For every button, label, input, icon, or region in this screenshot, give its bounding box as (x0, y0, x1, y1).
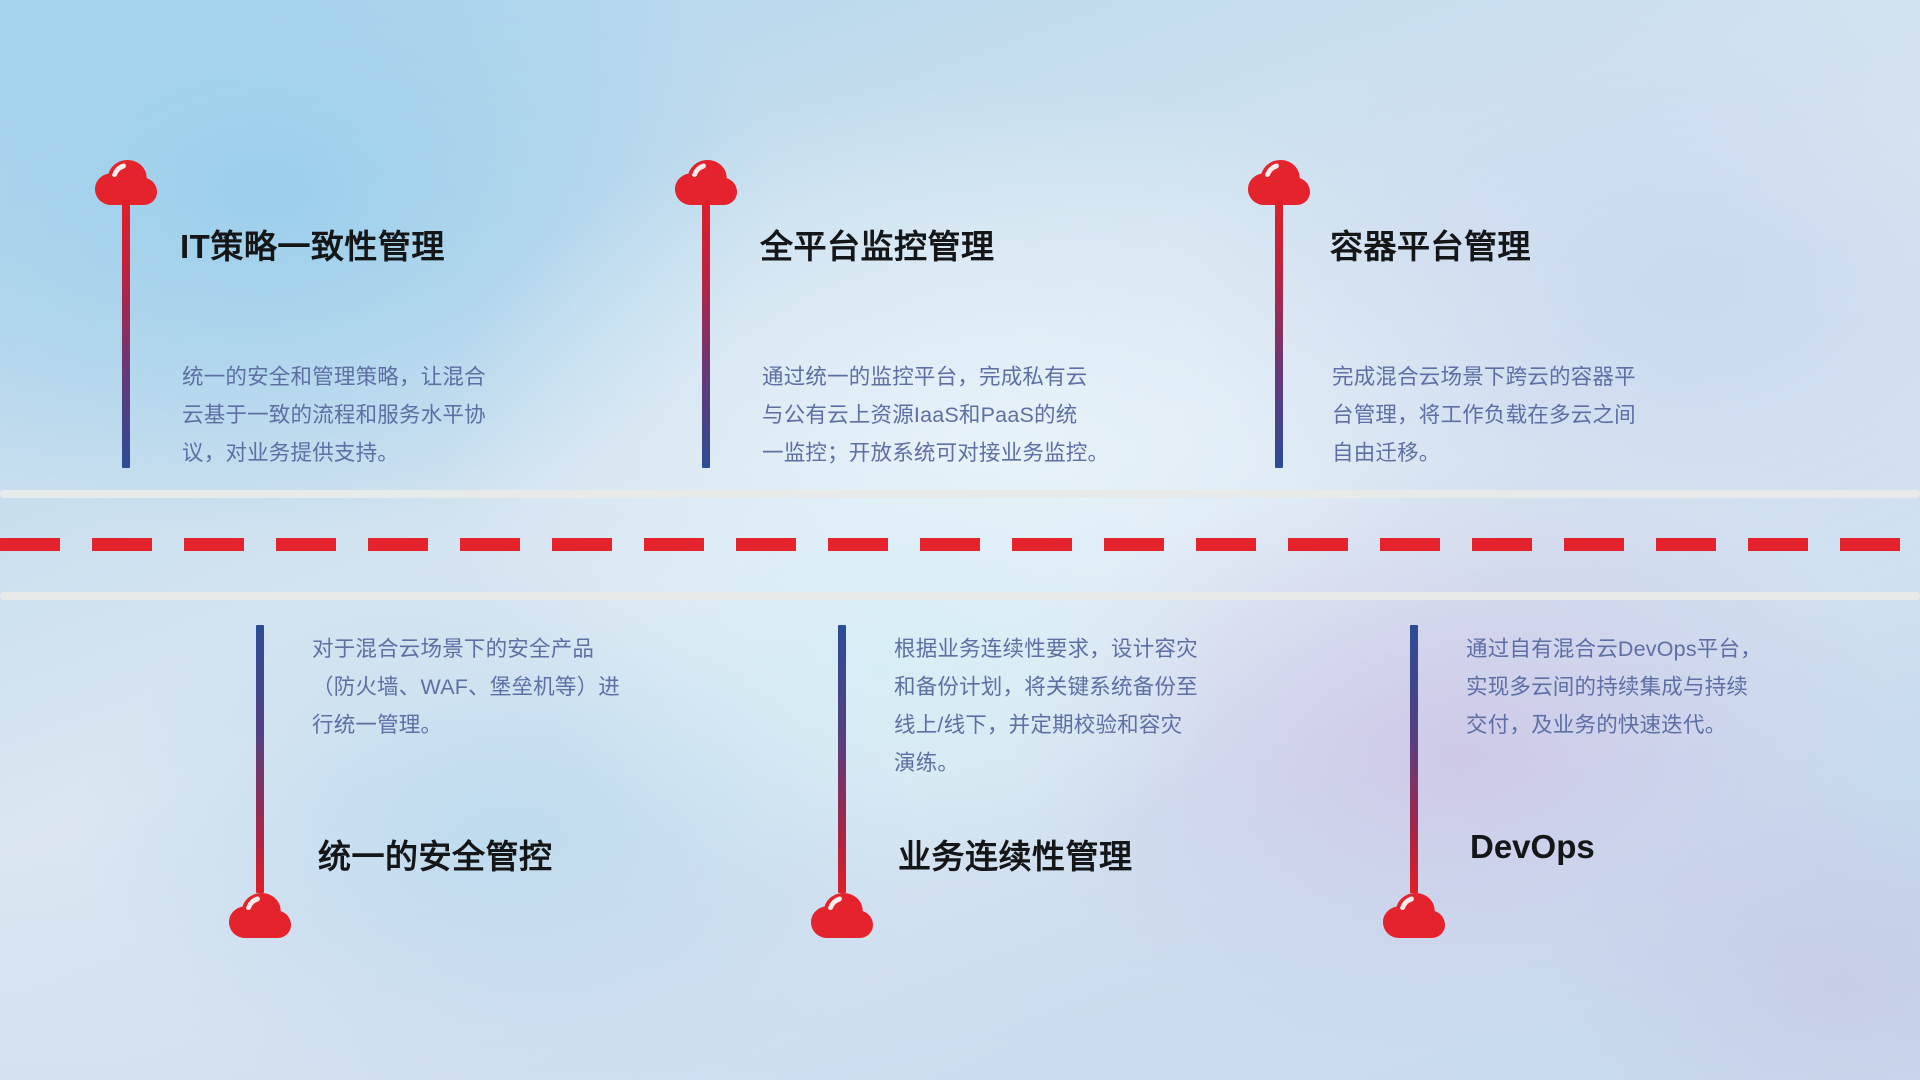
body-line: 行统一管理。 (312, 706, 742, 744)
body-line: 演练。 (894, 744, 1324, 782)
body-line: 统一的安全和管理策略，让混合 (182, 358, 612, 396)
connector-stem (122, 200, 130, 468)
top-item-3-body: 完成混合云场景下跨云的容器平 台管理，将工作负载在多云之间 自由迁移。 (1332, 358, 1762, 472)
cloud-icon (1383, 893, 1445, 939)
divider-line-top (0, 490, 1920, 498)
bottom-item-2-title: 业务连续性管理 (898, 830, 1133, 878)
bottom-item-3-title: DevOps (1470, 828, 1595, 866)
bottom-item-3-body: 通过自有混合云DevOps平台， 实现多云间的持续集成与持续 交付，及业务的快速… (1466, 630, 1896, 744)
body-line: 与公有云上资源IaaS和PaaS的统 (762, 396, 1222, 434)
top-item-1-body: 统一的安全和管理策略，让混合 云基于一致的流程和服务水平协 议，对业务提供支持。 (182, 358, 612, 472)
body-line: 一监控；开放系统可对接业务监控。 (762, 434, 1222, 472)
connector-stem (702, 200, 710, 468)
divider-line-bottom (0, 592, 1920, 600)
body-line: 根据业务连续性要求，设计容灾 (894, 630, 1324, 668)
body-line: 云基于一致的流程和服务水平协 (182, 396, 612, 434)
body-line: 台管理，将工作负载在多云之间 (1332, 396, 1762, 434)
body-line: 通过自有混合云DevOps平台， (1466, 630, 1896, 668)
connector-stem (1410, 625, 1418, 893)
connector-stem (256, 625, 264, 893)
body-line: 和备份计划，将关键系统备份至 (894, 668, 1324, 706)
bottom-item-2-body: 根据业务连续性要求，设计容灾 和备份计划，将关键系统备份至 线上/线下，并定期校… (894, 630, 1324, 782)
hybrid-cloud-divider (0, 490, 1920, 600)
bottom-item-1-body: 对于混合云场景下的安全产品 （防火墙、WAF、堡垒机等）进 行统一管理。 (312, 630, 742, 744)
cloud-icon (229, 893, 291, 939)
body-line: 对于混合云场景下的安全产品 (312, 630, 742, 668)
bottom-item-1-title: 统一的安全管控 (318, 830, 553, 878)
top-item-3-title: 容器平台管理 (1330, 220, 1531, 268)
top-item-2-body: 通过统一的监控平台，完成私有云 与公有云上资源IaaS和PaaS的统 一监控；开… (762, 358, 1222, 472)
cloud-icon (811, 893, 873, 939)
top-item-1-title: IT策略一致性管理 (180, 220, 445, 268)
body-line: 通过统一的监控平台，完成私有云 (762, 358, 1222, 396)
connector-stem (1275, 200, 1283, 468)
top-item-2-title: 全平台监控管理 (760, 220, 995, 268)
body-line: 完成混合云场景下跨云的容器平 (1332, 358, 1762, 396)
connector-stem (838, 625, 846, 893)
body-line: 议，对业务提供支持。 (182, 434, 612, 472)
body-line: （防火墙、WAF、堡垒机等）进 (312, 668, 742, 706)
body-line: 交付，及业务的快速迭代。 (1466, 706, 1896, 744)
body-line: 自由迁移。 (1332, 434, 1762, 472)
divider-dashed-line (0, 538, 1920, 551)
body-line: 实现多云间的持续集成与持续 (1466, 668, 1896, 706)
body-line: 线上/线下，并定期校验和容灾 (894, 706, 1324, 744)
